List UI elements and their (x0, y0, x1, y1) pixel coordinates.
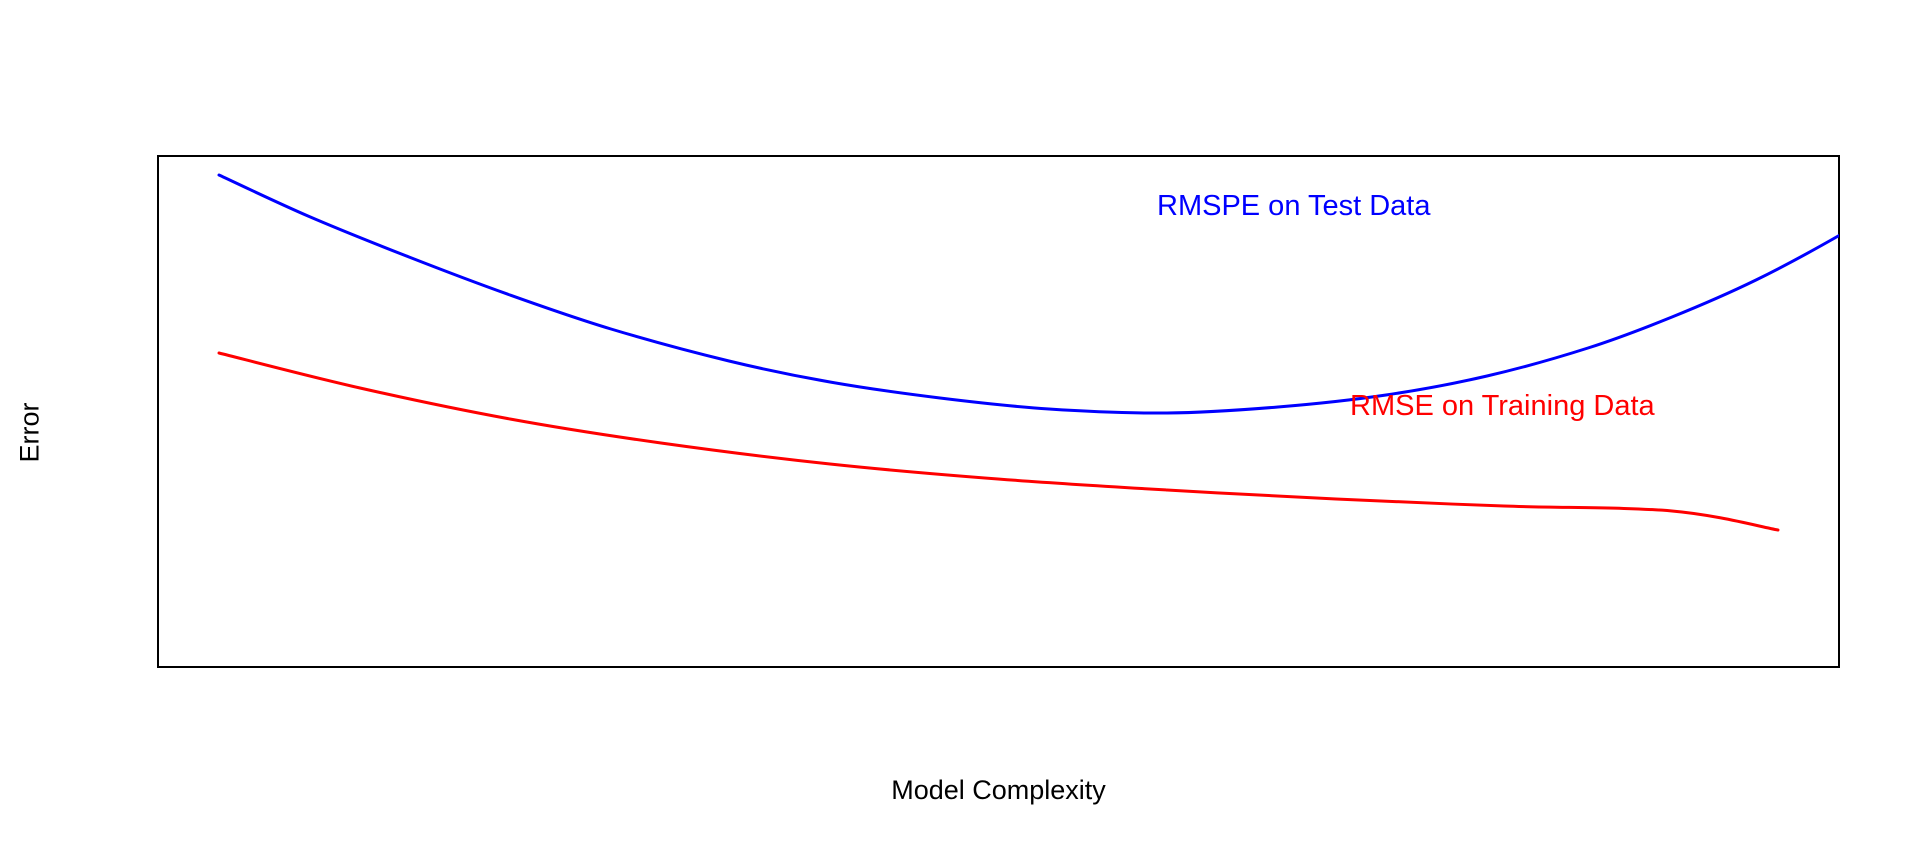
series-label-test: RMSPE on Test Data (1157, 192, 1430, 221)
chart-figure: Error Model Complexity RMSPE on Test Dat… (0, 0, 1920, 864)
x-axis-title: Model Complexity (157, 775, 1840, 806)
x-axis-title-text: Model Complexity (891, 775, 1106, 805)
y-axis-title-text: Error (15, 402, 46, 462)
y-axis-title: Error (0, 0, 60, 864)
series-label-training: RMSE on Training Data (1350, 392, 1655, 421)
